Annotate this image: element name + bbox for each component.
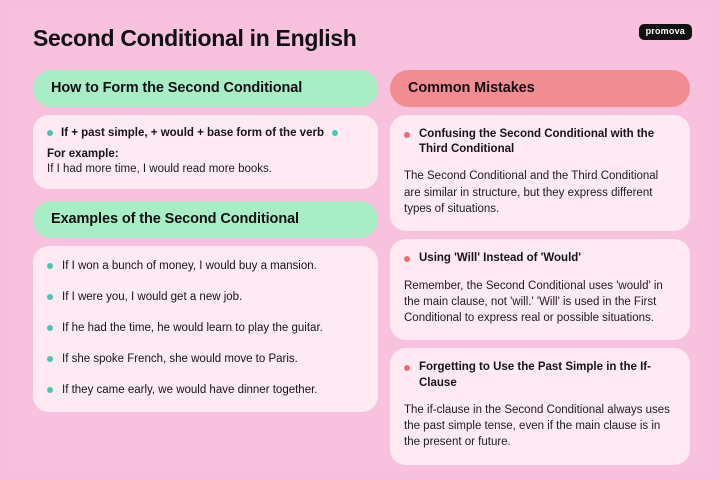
mistake-title: Forgetting to Use the Past Simple in the… [419,360,675,390]
mistake-title-row: Confusing the Second Conditional with th… [404,127,675,157]
bullet-dot-icon [47,294,53,300]
section-header-how-to-form: How to Form the Second Conditional [33,70,378,107]
section-header-common-mistakes: Common Mistakes [390,70,690,107]
mistake-title: Confusing the Second Conditional with th… [419,127,675,157]
bullet-dot-icon [404,256,410,262]
bullet-dot-icon [47,130,53,136]
list-item: If he had the time, he would learn to pl… [47,321,364,336]
bullet-dot-icon [47,387,53,393]
mistake-card: Confusing the Second Conditional with th… [390,115,690,231]
list-item: If I were you, I would get a new job. [47,290,364,305]
left-column: How to Form the Second Conditional If + … [33,70,378,412]
examples-card: If I won a bunch of money, I would buy a… [33,246,378,412]
mistake-card: Forgetting to Use the Past Simple in the… [390,348,690,464]
list-item: If she spoke French, she would move to P… [47,352,364,367]
bullet-dot-icon [47,325,53,331]
bullet-dot-icon [332,130,338,136]
example-text: If they came early, we would have dinner… [62,383,318,398]
section-header-examples: Examples of the Second Conditional [33,201,378,238]
example-text: If I were you, I would get a new job. [62,290,242,305]
infographic-poster: Second Conditional in English promova Ho… [0,0,720,480]
mistake-title: Using 'Will' Instead of 'Would' [419,251,581,266]
mistake-card: Using 'Will' Instead of 'Would' Remember… [390,239,690,340]
bullet-dot-icon [47,263,53,269]
form-example-sentence: If I had more time, I would read more bo… [47,163,364,175]
mistake-title-row: Using 'Will' Instead of 'Would' [404,251,675,266]
right-column: Common Mistakes Confusing the Second Con… [390,70,690,465]
example-text: If she spoke French, she would move to P… [62,352,298,367]
mistake-body: Remember, the Second Conditional uses 'w… [404,278,675,327]
formula-card: If + past simple, + would + base form of… [33,115,378,189]
bullet-dot-icon [404,365,410,371]
promova-logo: promova [639,24,692,40]
example-text: If he had the time, he would learn to pl… [62,321,323,336]
example-text: If I won a bunch of money, I would buy a… [62,259,317,274]
list-item: If they came early, we would have dinner… [47,383,364,398]
formula-line: If + past simple, + would + base form of… [47,127,364,139]
bullet-dot-icon [404,132,410,138]
for-example-label: For example: [47,148,364,160]
mistake-title-row: Forgetting to Use the Past Simple in the… [404,360,675,390]
bullet-dot-icon [47,356,53,362]
page-title: Second Conditional in English [33,25,357,52]
mistake-body: The if-clause in the Second Conditional … [404,402,675,451]
mistake-body: The Second Conditional and the Third Con… [404,168,675,217]
formula-text: If + past simple, + would + base form of… [61,127,324,139]
list-item: If I won a bunch of money, I would buy a… [47,259,364,274]
